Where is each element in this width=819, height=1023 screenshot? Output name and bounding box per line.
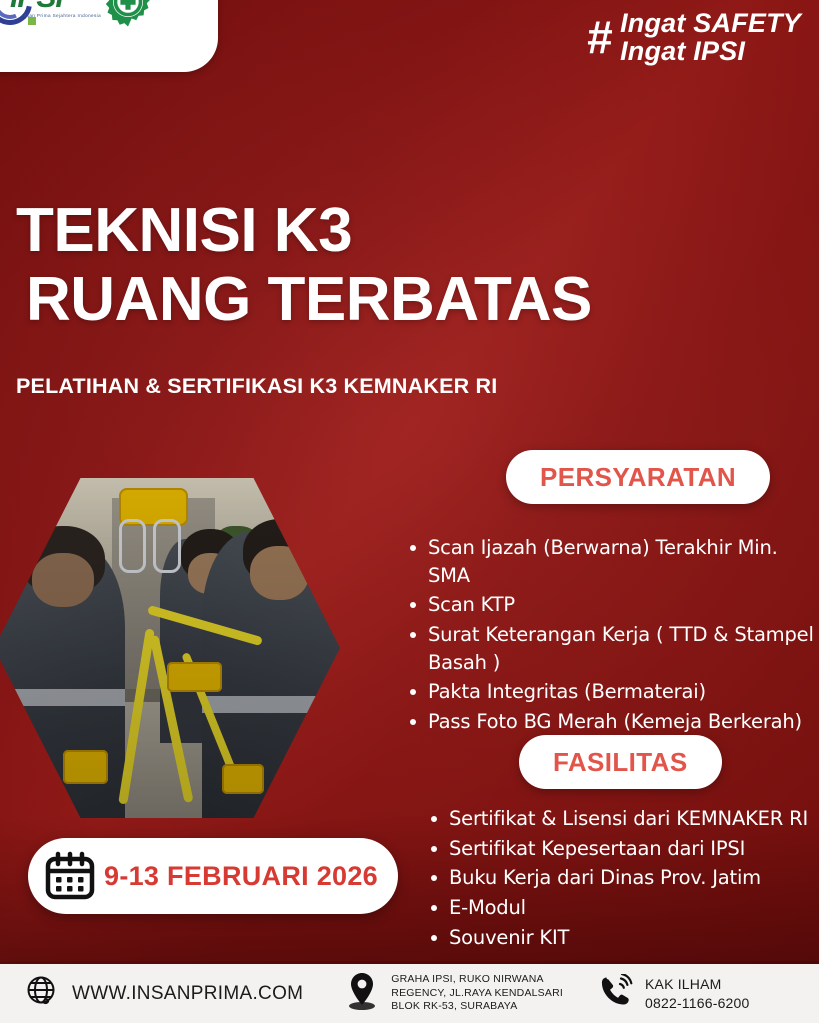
logo-tagline: Insan Prima Sejahtera Indonesia <box>22 13 101 18</box>
title-line-1: TEKNISI K3 <box>16 196 656 265</box>
list-item: Scan Ijazah (Berwarna) Terakhir Min. SMA <box>428 534 819 589</box>
footer-contact-name: KAK ILHAM <box>645 975 750 993</box>
phone-icon <box>599 974 633 1013</box>
list-item: Surat Keterangan Kerja ( TTD & Stampel B… <box>428 621 819 676</box>
ipsi-logo: IPSI Insan Prima Sejahtera Indonesia <box>0 0 154 32</box>
list-item: Sertifikat & Lisensi dari KEMNAKER RI <box>449 805 819 833</box>
list-item: Scan KTP <box>428 591 819 619</box>
logo-square-icon <box>28 17 36 25</box>
hash-icon: # <box>587 14 611 60</box>
footer-address: GRAHA IPSI, RUKO NIRWANA REGENCY, JL.RAY… <box>345 971 563 1016</box>
facilities-list: Sertifikat & Lisensi dari KEMNAKER RI Se… <box>415 805 819 953</box>
footer-address-line-2: REGENCY, JL.RAYA KENDALSARI <box>391 987 563 1000</box>
hashtag-line-1: Ingat SAFETY <box>620 9 801 37</box>
location-pin-icon <box>345 971 379 1016</box>
list-item: Buku Kerja dari Dinas Prov. Jatim <box>449 864 819 892</box>
title-line-2: RUANG TERBATAS <box>26 265 656 334</box>
footer-contact-number: 0822-1166-6200 <box>645 994 750 1012</box>
footer-contact[interactable]: KAK ILHAM 0822-1166-6200 <box>599 974 750 1013</box>
section-badge-label: PERSYARATAN <box>540 462 736 493</box>
ipsi-logo-mark: IPSI Insan Prima Sejahtera Indonesia <box>0 0 96 31</box>
list-item: Pakta Integritas (Bermaterai) <box>428 678 819 706</box>
footer-website[interactable]: WWW.INSANPRIMA.COM <box>0 975 303 1012</box>
section-badge-label: FASILITAS <box>553 747 688 778</box>
requirements-list: Scan Ijazah (Berwarna) Terakhir Min. SMA… <box>394 534 819 738</box>
list-item: Pass Foto BG Merah (Kemeja Berkerah) <box>428 708 819 736</box>
globe-icon <box>26 975 58 1012</box>
list-item: Souvenir KIT <box>449 924 819 952</box>
footer-bar: WWW.INSANPRIMA.COM GRAHA IPSI, RUKO NIRW… <box>0 964 819 1023</box>
list-item: Sertifikat Kepesertaan dari IPSI <box>449 835 819 863</box>
date-badge: 9-13 FEBRUARI 2026 <box>28 838 398 914</box>
list-item: E-Modul <box>449 894 819 922</box>
logo-panel: IPSI Insan Prima Sejahtera Indonesia <box>0 0 218 72</box>
calendar-icon <box>44 851 96 901</box>
training-poster: IPSI Insan Prima Sejahtera Indonesia # I… <box>0 0 819 1023</box>
footer-website-text: WWW.INSANPRIMA.COM <box>72 983 303 1005</box>
footer-address-line-3: BLOK RK-53, SURABAYA <box>391 1000 563 1013</box>
hashtag-slogan: # Ingat SAFETY Ingat IPSI <box>587 9 802 65</box>
date-text: 9-13 FEBRUARI 2026 <box>104 861 378 892</box>
poster-subtitle: PELATIHAN & SERTIFIKASI K3 KEMNAKER RI <box>16 374 497 399</box>
hashtag-line-2: Ingat IPSI <box>620 37 801 65</box>
poster-title: TEKNISI K3 RUANG TERBATAS <box>16 196 656 335</box>
footer-address-line-1: GRAHA IPSI, RUKO NIRWANA <box>391 973 563 986</box>
section-badge-persyaratan: PERSYARATAN <box>506 450 770 504</box>
gear-plus-icon <box>102 0 154 28</box>
section-badge-fasilitas: FASILITAS <box>519 735 722 789</box>
